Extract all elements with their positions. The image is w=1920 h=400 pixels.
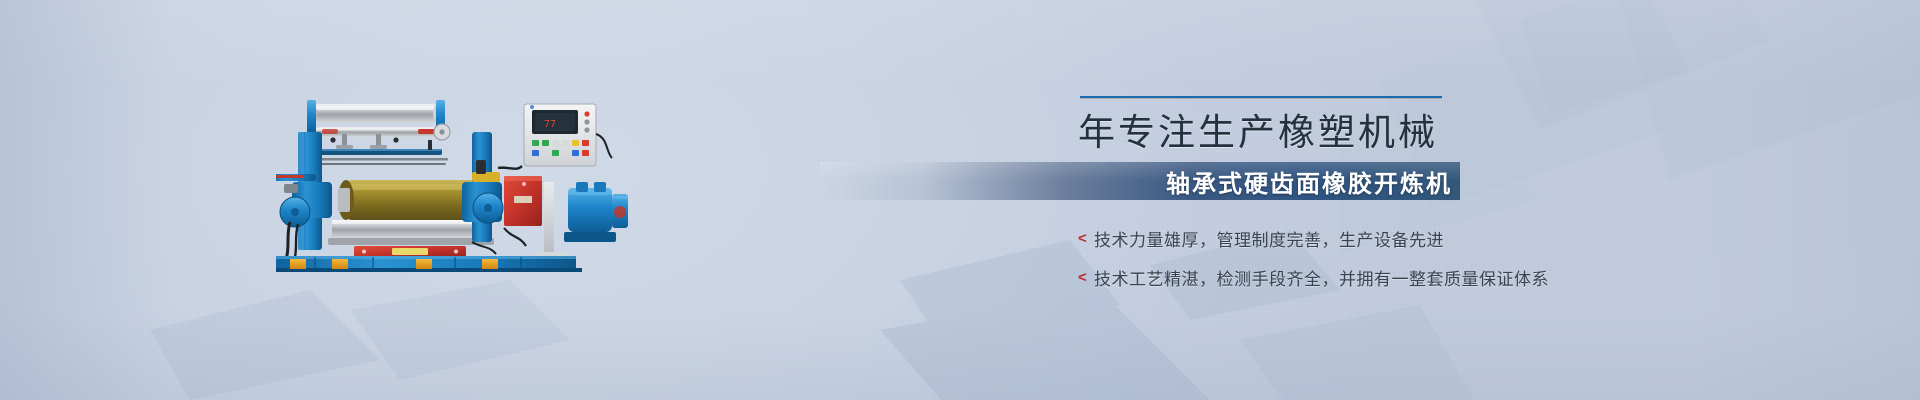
banner-subtitle-bar: 轴承式硬齿面橡胶开炼机 bbox=[820, 162, 1460, 200]
banner-subtitle-text: 轴承式硬齿面橡胶开炼机 bbox=[1166, 164, 1460, 199]
decorative-polygons-bottom-left bbox=[150, 270, 570, 400]
banner-text-block: 年专注生产橡塑机械 轴承式硬齿面橡胶开炼机 < 技术力量雄厚，管理制度完善，生产… bbox=[1076, 96, 1776, 304]
chevron-left-icon: < bbox=[1078, 270, 1094, 285]
svg-text:77: 77 bbox=[544, 119, 556, 130]
list-item: < 技术力量雄厚，管理制度完善，生产设备先进 bbox=[1078, 226, 1776, 251]
banner-headline: 年专注生产橡塑机械 bbox=[1078, 110, 1776, 156]
machine-red-control-box bbox=[504, 176, 542, 226]
promo-banner: 77 bbox=[0, 0, 1920, 400]
chevron-left-icon: < bbox=[1078, 231, 1094, 246]
list-item: < 技术工艺精湛，检测手段齐全，并拥有一整套质量保证体系 bbox=[1078, 265, 1776, 290]
product-image-rubber-mixing-mill: 77 bbox=[276, 96, 628, 272]
accent-rule bbox=[1080, 96, 1442, 100]
accent-rule-tan bbox=[1080, 98, 1442, 99]
machine-motor bbox=[564, 182, 628, 242]
bullet-text: 技术力量雄厚，管理制度完善，生产设备先进 bbox=[1094, 226, 1444, 251]
machine-upper-assembly bbox=[303, 100, 450, 165]
bullet-text: 技术工艺精湛，检测手段齐全，并拥有一整套质量保证体系 bbox=[1094, 265, 1549, 290]
banner-bullet-list: < 技术力量雄厚，管理制度完善，生产设备先进 < 技术工艺精湛，检测手段齐全，并… bbox=[1078, 226, 1776, 290]
machine-tray bbox=[328, 220, 494, 257]
machine-base bbox=[276, 256, 582, 272]
